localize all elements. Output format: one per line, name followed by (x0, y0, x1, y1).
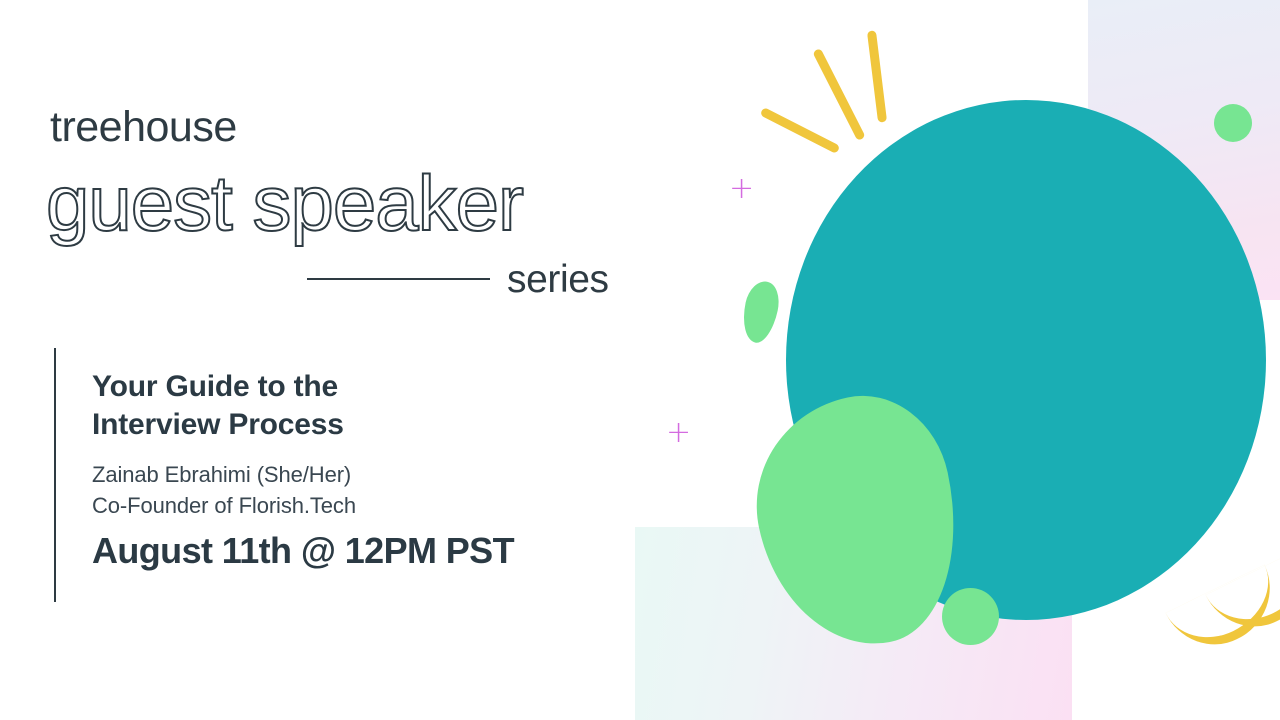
vertical-divider-rule (54, 348, 56, 602)
series-divider-rule (307, 278, 490, 280)
plus-icon-upper: + (729, 174, 754, 204)
pastel-gradient-panel-bottom-left (635, 527, 1072, 720)
speaker-name: Zainab Ebrahimi (She/Her) (92, 459, 612, 490)
green-blob-icon-small (738, 278, 783, 346)
series-label: series (507, 260, 609, 299)
brand-wordmark: treehouse (50, 106, 237, 149)
yellow-wave-icon-2 (1206, 547, 1280, 645)
event-title: Your Guide to the Interview Process (92, 368, 612, 445)
speaker-details: Zainab Ebrahimi (She/Her) Co-Founder of … (92, 459, 612, 521)
event-date-time: August 11th @ 12PM PST (92, 531, 612, 571)
pastel-gradient-panel-top-right (1088, 0, 1280, 300)
teal-circle-shape (786, 100, 1266, 620)
speaker-portrait-photo (786, 100, 1266, 620)
promo-graphic: + + treehouse guest speaker series Your … (0, 0, 1280, 720)
yellow-wave-icon-1 (1166, 565, 1280, 663)
event-title-line-1: Your Guide to the (92, 368, 612, 406)
event-title-line-2: Interview Process (92, 406, 612, 444)
green-dot-icon-top (1214, 104, 1252, 142)
yellow-stroke-icon-1 (760, 107, 841, 154)
yellow-stroke-icon-2 (812, 48, 865, 141)
series-row: series (307, 255, 627, 303)
event-info-block: Your Guide to the Interview Process Zain… (92, 368, 612, 571)
green-blob-icon-large (736, 380, 979, 663)
green-dot-icon-bottom (942, 588, 999, 645)
speaker-role: Co-Founder of Florish.Tech (92, 490, 612, 521)
plus-icon-lower: + (666, 418, 691, 448)
headline-guest-speaker: guest speaker (46, 164, 523, 242)
yellow-stroke-icon-3 (867, 30, 887, 122)
